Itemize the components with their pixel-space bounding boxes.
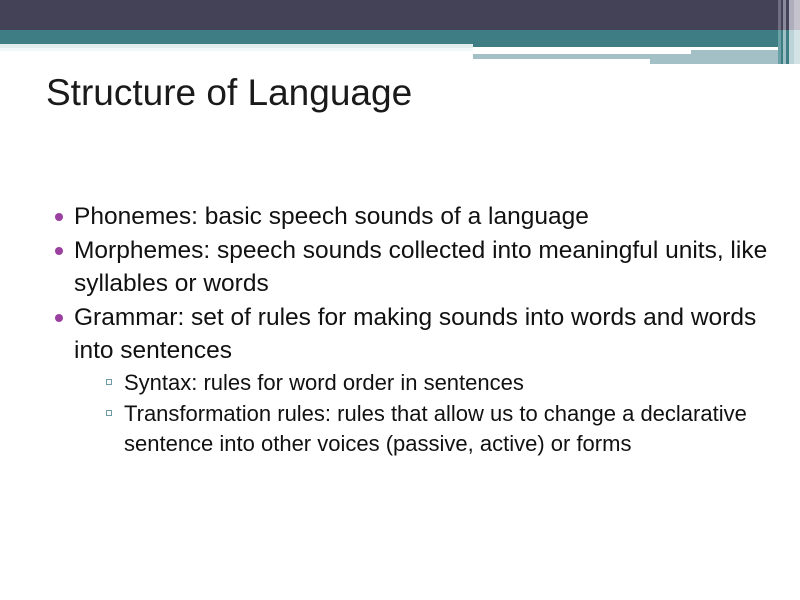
sub-bullet-text: Transformation rules: rules that allow u… [124,401,747,456]
bullet-square-icon [106,410,112,416]
bullet-item: Grammar: set of rules for making sounds … [52,301,768,459]
bullet-list-level2: Syntax: rules for word order in sentence… [74,368,768,459]
bullet-item: Phonemes: basic speech sounds of a langu… [52,200,768,233]
bullet-square-icon [106,379,112,385]
sub-bullet-item: Syntax: rules for word order in sentence… [104,368,768,398]
header-band-dark [0,0,800,30]
sub-bullet-item: Transformation rules: rules that allow u… [104,399,768,459]
header-band-white-sliver [473,50,691,54]
bullet-dot-icon [55,213,63,221]
bullet-dot-icon [55,314,63,322]
bullet-text: Phonemes: basic speech sounds of a langu… [74,203,589,230]
header-band-pale-left-2 [0,48,473,51]
bullet-text: Grammar: set of rules for making sounds … [74,304,756,364]
slide-canvas: Structure of Language Phonemes: basic sp… [0,0,800,600]
bullet-item: Morphemes: speech sounds collected into … [52,234,768,300]
header-band-teal-right [473,30,800,47]
bullet-text: Morphemes: speech sounds collected into … [74,237,767,297]
bullet-dot-icon [55,247,63,255]
corner-stripe-lower-6 [794,30,800,64]
corner-stripe-6 [794,0,800,30]
slide-title: Structure of Language [46,70,746,116]
slide-body: Phonemes: basic speech sounds of a langu… [52,200,768,460]
bullet-list-level1: Phonemes: basic speech sounds of a langu… [52,200,768,459]
sub-bullet-text: Syntax: rules for word order in sentence… [124,370,524,395]
